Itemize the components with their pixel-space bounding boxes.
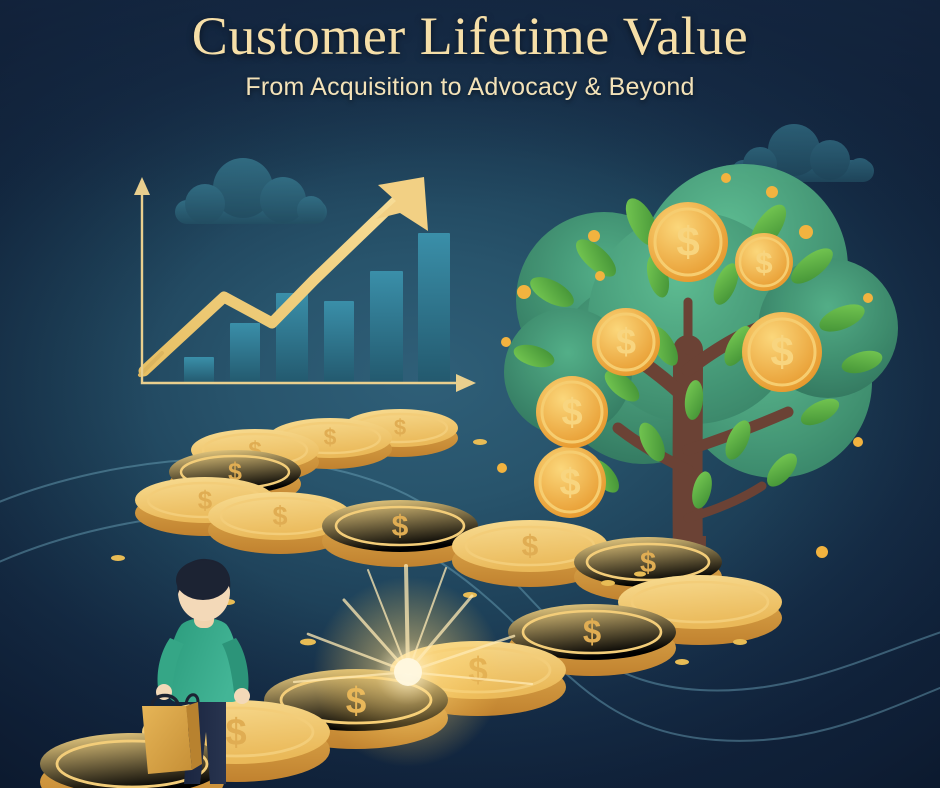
trend-arrow-head [376,177,428,231]
poster-canvas: $ $ $ $ $ $ [0,0,940,788]
bar-4 [324,301,354,383]
tree-coin: $ [735,233,793,291]
coin-dollar-symbol: $ [676,218,699,265]
y-axis-arrow-icon [134,177,150,195]
bar-chart [128,175,488,400]
coin-dollar-symbol: $ [616,321,636,362]
trend-arrow-line [144,201,396,371]
coin-dollar-symbol: $ [522,530,539,563]
page-title: Customer Lifetime Value [0,8,940,65]
bar-6 [418,233,450,383]
title-block: Customer Lifetime Value From Acquisition… [0,8,940,102]
coin-dollar-symbol: $ [583,613,601,650]
coin-dollar-symbol: $ [770,328,793,375]
coin-dollar-symbol: $ [392,510,409,543]
tree-coin: $ [592,308,660,376]
chart-bars [184,233,450,383]
coin-dollar-symbol: $ [272,501,287,531]
page-subtitle: From Acquisition to Advocacy & Beyond [0,73,940,102]
bar-5 [370,271,403,383]
shopping-bag [142,695,202,774]
customer-figure [140,556,310,788]
coin-dollar-symbol: $ [755,245,772,280]
tree-coin: $ [648,202,728,282]
light-flare [300,560,560,788]
bar-2 [230,323,260,383]
coin-dollar-symbol: $ [394,415,406,440]
coin-dollar-symbol: $ [324,424,337,450]
person-hand-right [234,688,250,704]
